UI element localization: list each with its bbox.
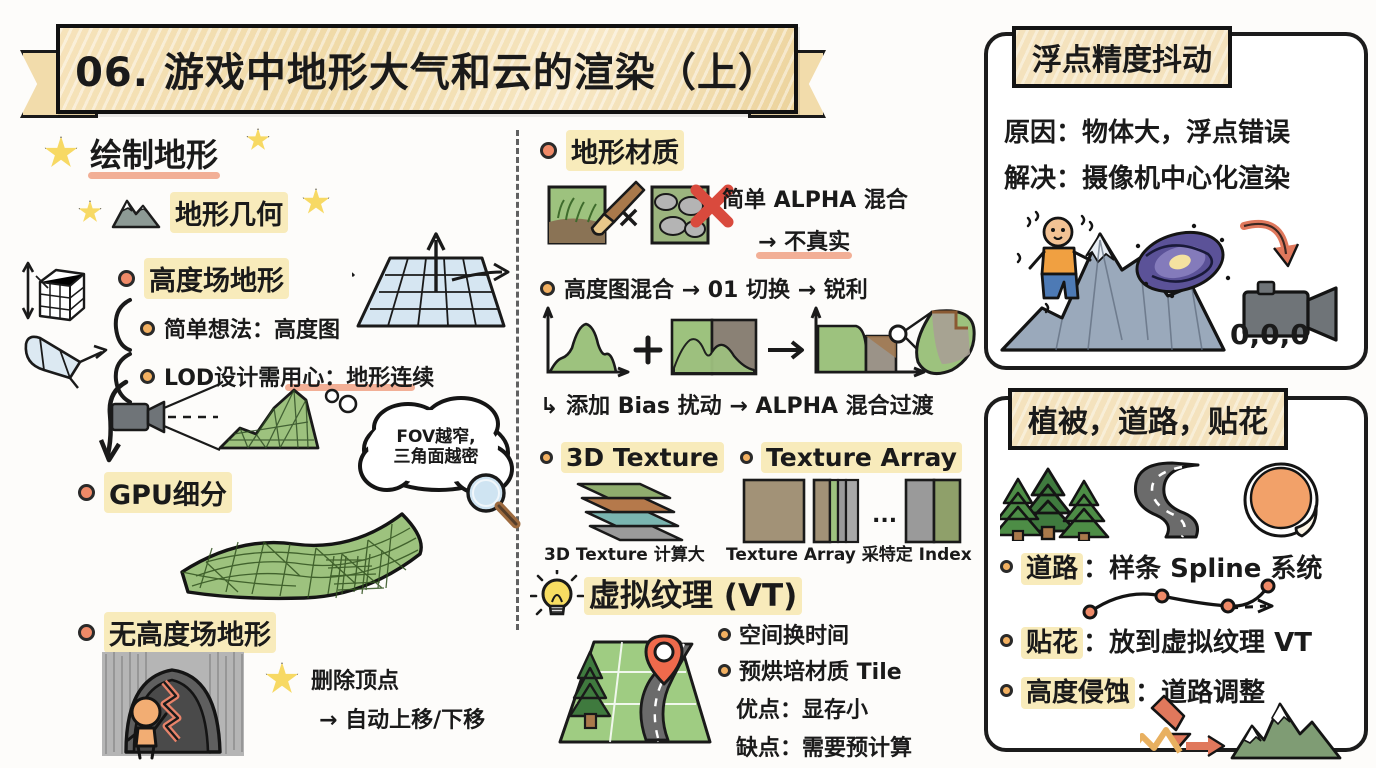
fov-line-2: 三角面越密 — [378, 448, 494, 468]
texture-array-caption: Texture Array 采特定 Index — [726, 540, 972, 565]
bullet-dot — [718, 628, 731, 641]
bullet-dot — [1000, 560, 1013, 573]
sticker-icon — [1240, 460, 1326, 546]
sketchnote-page: 06. 游戏中地形大气和云的渲染（上） 绘制地形 地形几何 — [0, 0, 1376, 768]
brush-icon — [586, 178, 646, 244]
heightmap-blend-diagrams — [536, 306, 976, 390]
fov-bubble-text: FOV越窄, 三角面越密 — [378, 428, 494, 467]
alpha-blend-note: 简单 ALPHA 混合 → 不真实 — [722, 182, 908, 256]
section-heightfield-terrain: 高度场地形 — [118, 258, 289, 299]
veg-road-decal-icons — [1000, 460, 1326, 546]
page-title: 06. 游戏中地形大气和云的渲染（上） — [75, 40, 779, 98]
section-terrain-geometry: 地形几何 — [78, 188, 330, 236]
texture-3d-stack-diagram — [556, 478, 716, 548]
road-icon — [1130, 461, 1220, 545]
card2-bullet-decal: 贴花：放到虚拟纹理 VT — [1021, 622, 1312, 659]
section-texture-array: Texture Array — [740, 442, 962, 473]
bullet-dot — [78, 624, 95, 641]
section-virtual-texture: 虚拟纹理 (VT) — [584, 570, 802, 615]
texture-3d-caption: 3D Texture 计算大 — [544, 540, 705, 565]
list-item-label: 简单想法：高度图 — [164, 312, 340, 344]
section-no-heightfield: 无高度场地形 — [78, 612, 276, 653]
section-terrain-geometry-label: 地形几何 — [170, 192, 288, 233]
star-icon — [78, 200, 102, 224]
bullet-dot — [78, 484, 95, 501]
gpu-tessellation-mesh — [176, 500, 430, 616]
section-heightfield-label: 高度场地形 — [144, 258, 289, 299]
section-texture-array-label: Texture Array — [761, 442, 962, 473]
list-item: 空间换时间 — [718, 618, 912, 650]
star-icon — [246, 128, 270, 152]
star-icon — [44, 136, 78, 170]
lightbulb-icon — [530, 570, 584, 628]
magnifier-icon — [462, 470, 524, 536]
vt-note-pro: 优点：显存小 — [736, 692, 912, 724]
axis-cube-sketch — [14, 258, 106, 328]
delete-vertex-line-2: → 自动上移/下移 — [319, 702, 485, 734]
ribbon-body: 06. 游戏中地形大气和云的渲染（上） — [56, 24, 798, 114]
texture-array-diagram: ... — [742, 478, 964, 548]
bullet-dot — [540, 281, 555, 296]
heightmap-mix-bullet: 高度图混合 → 01 切换 → 锐利 — [540, 272, 868, 304]
bullet-dot — [1000, 634, 1013, 647]
bias-note-label: ↳ 添加 Bias 扰动 → ALPHA 混合过渡 — [540, 394, 934, 419]
section-3d-texture: 3D Texture — [540, 442, 724, 473]
delete-vertex-line-1: 删除顶点 — [311, 663, 399, 695]
trees-icon — [1000, 461, 1116, 545]
section-draw-terrain: 绘制地形 — [44, 128, 270, 178]
star-icon — [302, 188, 330, 216]
section-no-heightfield-label: 无高度场地形 — [104, 612, 276, 653]
vt-bullet-label: 预烘培材质 Tile — [739, 654, 902, 686]
array-ellipsis: ... — [872, 503, 897, 528]
list-item: 预烘培材质 Tile — [718, 654, 912, 686]
bias-note: ↳ 添加 Bias 扰动 → ALPHA 混合过渡 — [540, 388, 934, 420]
vt-bullet-label: 空间换时间 — [739, 618, 849, 650]
section-vt-label: 虚拟纹理 (VT) — [584, 577, 802, 615]
bullet-dot — [1000, 684, 1013, 697]
title-ribbon: 06. 游戏中地形大气和云的渲染（上） — [18, 20, 828, 120]
list-item: 贴花：放到虚拟纹理 VT — [1000, 622, 1312, 659]
lod-camera-scene — [108, 382, 358, 462]
height-erosion-diagram — [1140, 690, 1346, 766]
bullet-dot — [740, 451, 753, 464]
section-terrain-material: 地形材质 — [540, 130, 684, 171]
delete-vertex-note: 删除顶点 → 自动上移/下移 — [265, 662, 485, 734]
card-title: 植被，道路，贴花 — [1008, 388, 1288, 450]
alpha-note-line-2: → 不真实 — [758, 224, 850, 256]
star-icon — [265, 662, 299, 696]
alpha-note-line-1: 简单 ALPHA 混合 — [722, 182, 908, 214]
bullet-dot — [540, 142, 557, 159]
heightmap-mix-label: 高度图混合 → 01 切换 → 锐利 — [564, 272, 868, 304]
vt-note-con: 缺点：需要预计算 — [736, 730, 912, 762]
heightfield-grid-diagram — [352, 232, 512, 348]
vt-notes: 空间换时间 预烘培材质 Tile 优点：显存小 缺点：需要预计算 — [718, 618, 912, 762]
bullet-dot — [718, 664, 731, 677]
fov-line-1: FOV越窄, — [378, 428, 494, 448]
tunnel-illustration — [98, 648, 248, 764]
bullet-dot — [540, 451, 553, 464]
bullet-dot — [140, 321, 155, 336]
card1-line-2: 解决：摄像机中心化渲染 — [1004, 158, 1290, 195]
section-3d-texture-label: 3D Texture — [561, 442, 724, 473]
virtual-texture-scene — [554, 622, 718, 754]
list-item: 简单想法：高度图 — [140, 312, 340, 344]
card-title: 浮点精度抖动 — [1012, 26, 1232, 88]
card1-line-1: 原因：物体大，浮点错误 — [1004, 112, 1290, 149]
bullet-dot — [118, 270, 135, 287]
section-terrain-material-label: 地形材质 — [566, 130, 684, 171]
section-draw-terrain-label: 绘制地形 — [90, 130, 218, 176]
mountain-icon — [110, 195, 162, 229]
column-divider — [516, 130, 519, 630]
camera-origin-coordinate: 0,0,0 — [1230, 318, 1310, 351]
